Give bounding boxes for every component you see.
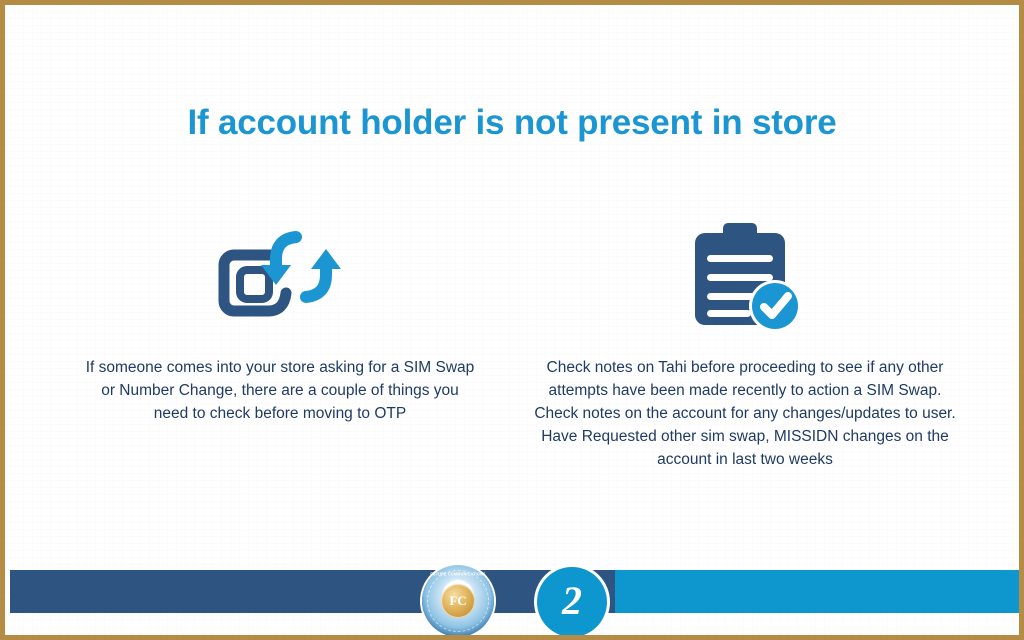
seal-ring xyxy=(427,570,489,632)
footer-bar-blue xyxy=(615,570,1024,613)
slide: If account holder is not present in stor… xyxy=(0,0,1024,640)
content-column-left: If someone comes into your store asking … xyxy=(60,215,500,425)
column-right-text: Check notes on Tahi before proceeding to… xyxy=(525,356,965,471)
brand-logo-2degrees: 2 xyxy=(537,567,607,637)
content-column-right: Check notes on Tahi before proceeding to… xyxy=(525,215,965,471)
logo-glyph: 2 xyxy=(562,581,582,621)
clipboard-check-icon xyxy=(685,220,805,335)
sim-swap-icon-container xyxy=(60,215,500,340)
page-title: If account holder is not present in stor… xyxy=(5,103,1019,143)
sim-swap-icon xyxy=(210,223,350,333)
clipboard-check-icon-container xyxy=(525,215,965,340)
future-communications-seal: FUTURE COMMUNICATIONS FC xyxy=(422,565,494,637)
seal-ring-text: FUTURE COMMUNICATIONS xyxy=(422,571,494,576)
column-left-text: If someone comes into your store asking … xyxy=(60,356,500,425)
